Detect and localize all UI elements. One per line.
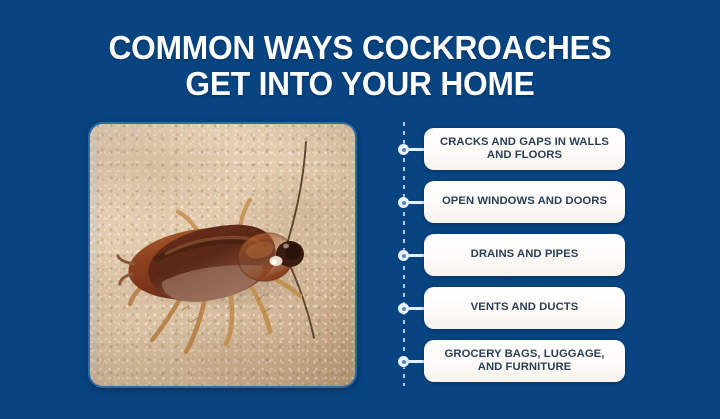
list-item-label: OPEN WINDOWS AND DOORS: [442, 195, 607, 208]
cockroach-illustration: [90, 124, 355, 386]
infographic-canvas: COMMON WAYS COCKROACHES GET INTO YOUR HO…: [0, 0, 720, 419]
page-title: COMMON WAYS COCKROACHES GET INTO YOUR HO…: [0, 30, 720, 102]
list-item-cracks-and-gaps[interactable]: CRACKS AND GAPS IN WALLS AND FLOORS: [424, 128, 625, 170]
list-item-label: CRACKS AND GAPS IN WALLS AND FLOORS: [432, 136, 617, 163]
list-item-label: DRAINS AND PIPES: [471, 248, 579, 261]
list-item-label: GROCERY BAGS, LUGGAGE, AND FURNITURE: [432, 348, 617, 375]
list-item-vents-and-ducts[interactable]: VENTS AND DUCTS: [424, 287, 625, 329]
list-item-grocery-bags-luggage-furniture[interactable]: GROCERY BAGS, LUGGAGE, AND FURNITURE: [424, 340, 625, 382]
title-line-2: GET INTO YOUR HOME: [14, 66, 705, 102]
cockroach-photo-frame: [88, 122, 357, 388]
cockroach-photo: [90, 124, 355, 386]
list-item-open-windows-and-doors[interactable]: OPEN WINDOWS AND DOORS: [424, 181, 625, 223]
list-item-drains-and-pipes[interactable]: DRAINS AND PIPES: [424, 234, 625, 276]
list-item-label: VENTS AND DUCTS: [471, 301, 579, 314]
title-line-1: COMMON WAYS COCKROACHES: [14, 30, 705, 66]
